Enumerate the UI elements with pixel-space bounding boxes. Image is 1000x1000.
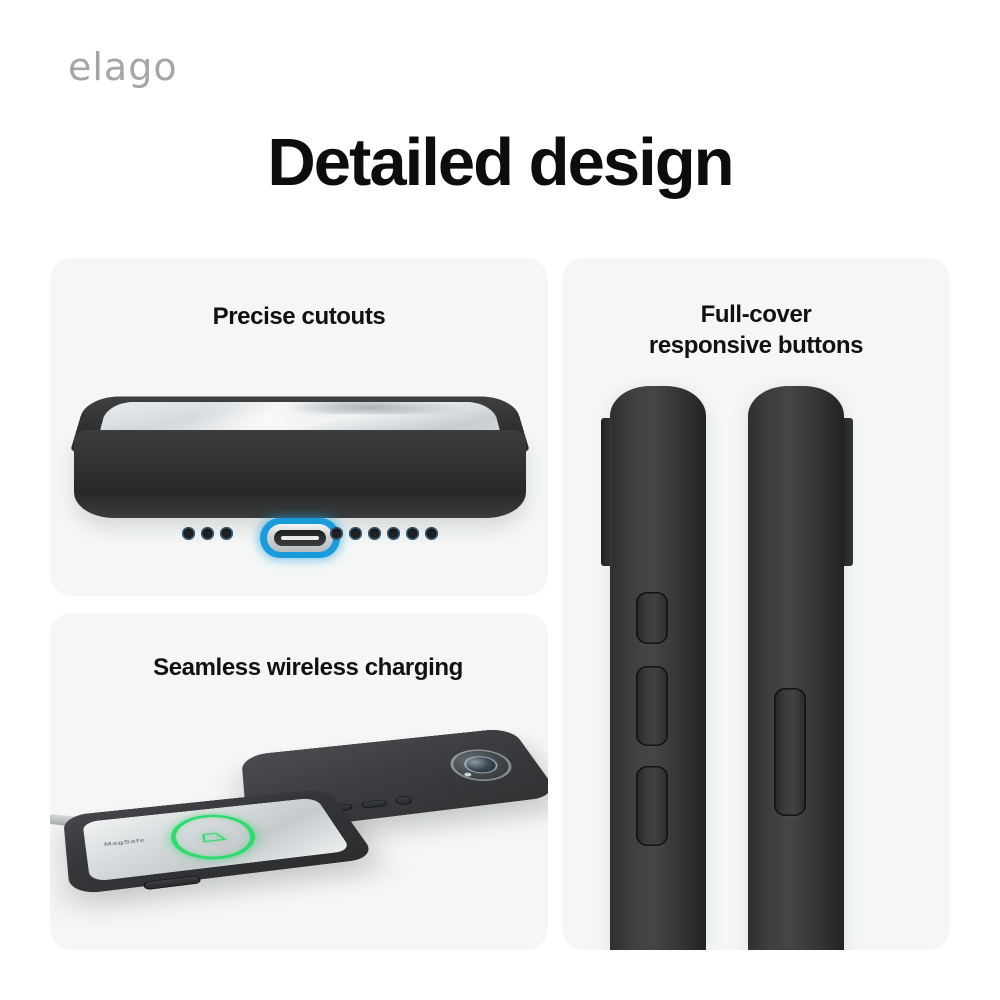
card-heading-line-2: responsive buttons [562, 331, 950, 362]
card-heading-seamless-wireless-charging: Seamless wireless charging [50, 653, 548, 684]
speaker-grille-left [182, 527, 233, 540]
magsafe-label: MagSafe [104, 837, 146, 847]
lightning-bolt-icon: ⏢ [198, 827, 228, 845]
side-profiles-scene [562, 386, 950, 950]
speaker-hole [425, 527, 438, 540]
action-button [636, 592, 668, 644]
speaker-hole [330, 527, 343, 540]
speaker-hole [182, 527, 195, 540]
speaker-hole [387, 527, 400, 540]
card-heading-line-1: Full-cover [562, 300, 950, 331]
usbc-tongue [281, 536, 319, 540]
phone-screen: MagSafe ⏢ [82, 798, 351, 882]
speaker-hole [368, 527, 381, 540]
wireless-charging-scene: MagSafe ⏢ [50, 699, 548, 950]
case-back-edge-strip [601, 418, 612, 566]
usbc-cavity [274, 530, 326, 546]
phone-face-up-charging: MagSafe ⏢ [63, 789, 377, 896]
camera-module-cutout [444, 747, 521, 784]
card-heading-precise-cutouts: Precise cutouts [50, 302, 548, 333]
speaker-hole [349, 527, 362, 540]
volume-down-button [361, 799, 388, 808]
speaker-grille-right [330, 527, 438, 540]
case-back-edge-strip [842, 418, 853, 566]
speaker-hole [201, 527, 214, 540]
speaker-hole [406, 527, 419, 540]
power-button [394, 795, 413, 805]
side-button [143, 875, 202, 890]
screen-smudge [284, 402, 464, 414]
case-profile-left [610, 386, 706, 950]
page-title: Detailed design [0, 129, 1000, 196]
usbc-port-cutout [260, 518, 340, 558]
speaker-hole [220, 527, 233, 540]
volume-up-button [636, 666, 668, 746]
usbc-bezel [267, 524, 333, 552]
case-bottom-rail [74, 430, 526, 518]
card-precise-cutouts: Precise cutouts [50, 258, 548, 596]
case-bottom-edge-scene [50, 374, 548, 554]
camera-flash-icon [464, 772, 473, 776]
card-seamless-wireless-charging: Seamless wireless charging MagSafe ⏢ [50, 613, 548, 950]
case-profile-right [748, 386, 844, 950]
brand-logo: elago [68, 48, 178, 86]
volume-down-button [636, 766, 668, 846]
card-full-cover-buttons: Full-cover responsive buttons [562, 258, 950, 950]
magsafe-charging-ring: ⏢ [165, 811, 265, 864]
power-button [774, 688, 806, 816]
card-heading-full-cover-buttons: Full-cover responsive buttons [562, 300, 950, 361]
